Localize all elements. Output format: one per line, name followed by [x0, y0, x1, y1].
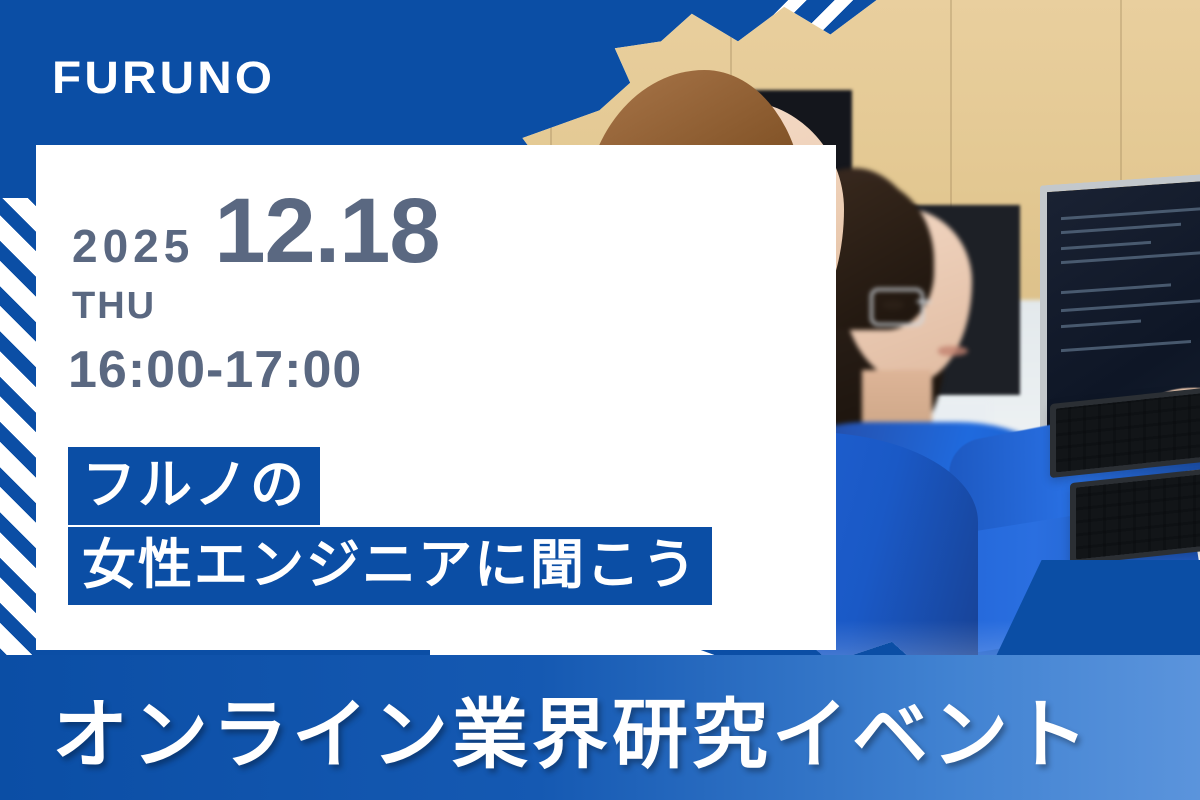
tagline-line-2: 女性エンジニアに聞こう [68, 527, 712, 605]
furuno-logo: FURUNO [52, 52, 275, 104]
info-card: 2025 12.18 THU 16:00-17:00 フルノの 女性エンジニアに… [36, 145, 836, 650]
tagline-line-1: フルノの [68, 447, 320, 525]
event-year: 2025 [72, 219, 194, 273]
headline-bar: オンライン業界研究イベント [0, 655, 1200, 800]
event-date: 2025 12.18 [72, 190, 440, 273]
event-time: 16:00-17:00 [68, 340, 362, 400]
event-day: 12.18 [214, 190, 439, 273]
event-headline: オンライン業界研究イベント [52, 673, 1092, 783]
event-weekday: THU [72, 285, 156, 328]
event-banner: FURUNO 2025 12.18 THU 16:00-17:00 フルノの 女… [0, 0, 1200, 800]
event-tagline: フルノの 女性エンジニアに聞こう [68, 447, 712, 605]
diagonal-stripes-left-icon [0, 198, 36, 668]
